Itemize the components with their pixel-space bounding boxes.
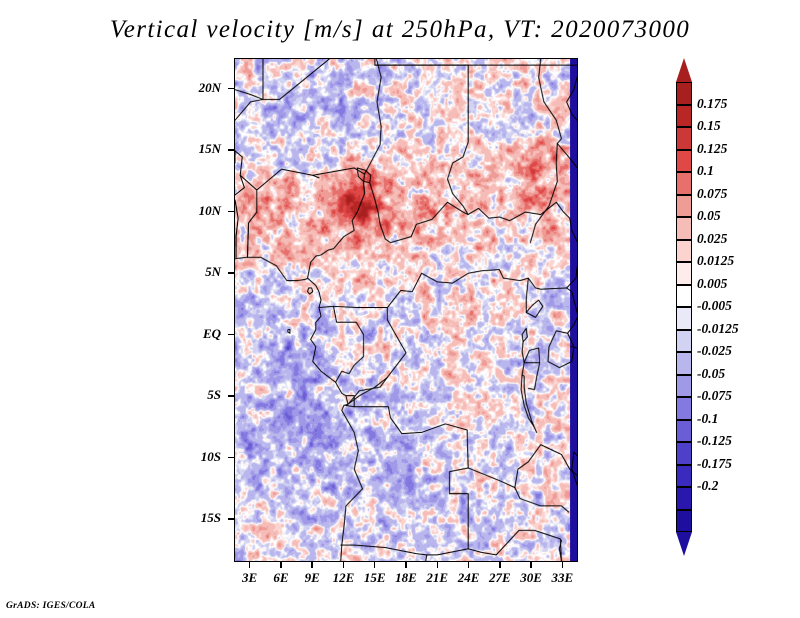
- colorbar-segment: [676, 330, 692, 353]
- colorbar-segment: [676, 240, 692, 263]
- colorbar-segment: [676, 172, 692, 195]
- y-tick: [228, 149, 234, 151]
- colorbar-segment: [676, 307, 692, 330]
- colorbar-segment: [676, 195, 692, 218]
- x-axis-label: 33E: [542, 570, 582, 586]
- page-title: Vertical velocity [m/s] at 250hPa, VT: 2…: [0, 16, 800, 44]
- y-tick: [228, 272, 234, 274]
- x-tick: [437, 562, 439, 568]
- colorbar-segment: [676, 217, 692, 240]
- x-tick: [405, 562, 407, 568]
- colorbar-segment: [676, 285, 692, 308]
- y-axis-label: 15N: [181, 141, 221, 157]
- colorbar-tick-label: -0.125: [697, 433, 732, 449]
- y-tick: [228, 211, 234, 213]
- colorbar-tick-label: -0.0125: [697, 321, 739, 337]
- colorbar-tick-label: -0.2: [697, 478, 718, 494]
- colorbar-min-arrow: [676, 532, 692, 556]
- grads-attribution: GrADS: IGES/COLA: [6, 601, 96, 611]
- x-tick: [343, 562, 345, 568]
- colorbar-segment: [676, 105, 692, 128]
- map-plot-area: [234, 58, 578, 562]
- colorbar-tick-label: -0.025: [697, 343, 732, 359]
- colorbar-tick-label: 0.05: [697, 208, 721, 224]
- y-tick: [228, 395, 234, 397]
- colorbar-segment: [676, 397, 692, 420]
- x-tick: [562, 562, 564, 568]
- colorbar: [676, 82, 692, 532]
- x-tick: [311, 562, 313, 568]
- y-tick: [228, 334, 234, 336]
- colorbar-tick-label: 0.175: [697, 96, 727, 112]
- y-axis-label: 15S: [181, 510, 221, 526]
- colorbar-segment: [676, 127, 692, 150]
- x-tick: [499, 562, 501, 568]
- colorbar-tick-label: -0.005: [697, 298, 732, 314]
- colorbar-tick-label: 0.025: [697, 231, 727, 247]
- colorbar-segment: [676, 487, 692, 510]
- colorbar-segment: [676, 510, 692, 533]
- x-tick: [468, 562, 470, 568]
- y-tick: [228, 88, 234, 90]
- colorbar-tick-label: -0.05: [697, 366, 725, 382]
- x-tick: [530, 562, 532, 568]
- colorbar-max-arrow: [676, 58, 692, 82]
- colorbar-segment: [676, 375, 692, 398]
- colorbar-segment: [676, 420, 692, 443]
- colorbar-tick-label: 0.125: [697, 141, 727, 157]
- country-borders-overlay: [235, 59, 577, 561]
- colorbar-segment: [676, 465, 692, 488]
- colorbar-tick-label: -0.175: [697, 456, 732, 472]
- colorbar-tick-label: 0.0125: [697, 253, 734, 269]
- y-tick: [228, 518, 234, 520]
- colorbar-tick-label: 0.15: [697, 118, 721, 134]
- x-tick: [280, 562, 282, 568]
- x-tick: [374, 562, 376, 568]
- colorbar-tick-label: -0.075: [697, 388, 732, 404]
- colorbar-tick-label: 0.1: [697, 163, 714, 179]
- colorbar-segment: [676, 442, 692, 465]
- y-axis-label: 20N: [181, 80, 221, 96]
- y-axis-label: EQ: [181, 326, 221, 342]
- y-axis-label: 5S: [181, 387, 221, 403]
- y-axis-label: 10N: [181, 203, 221, 219]
- colorbar-segment: [676, 352, 692, 375]
- x-tick: [249, 562, 251, 568]
- colorbar-tick-label: -0.1: [697, 411, 718, 427]
- colorbar-segment: [676, 150, 692, 173]
- colorbar-tick-label: 0.075: [697, 186, 727, 202]
- colorbar-segment: [676, 82, 692, 105]
- colorbar-tick-label: 0.005: [697, 276, 727, 292]
- y-axis-label: 5N: [181, 264, 221, 280]
- y-axis-label: 10S: [181, 449, 221, 465]
- y-tick: [228, 457, 234, 459]
- colorbar-segment: [676, 262, 692, 285]
